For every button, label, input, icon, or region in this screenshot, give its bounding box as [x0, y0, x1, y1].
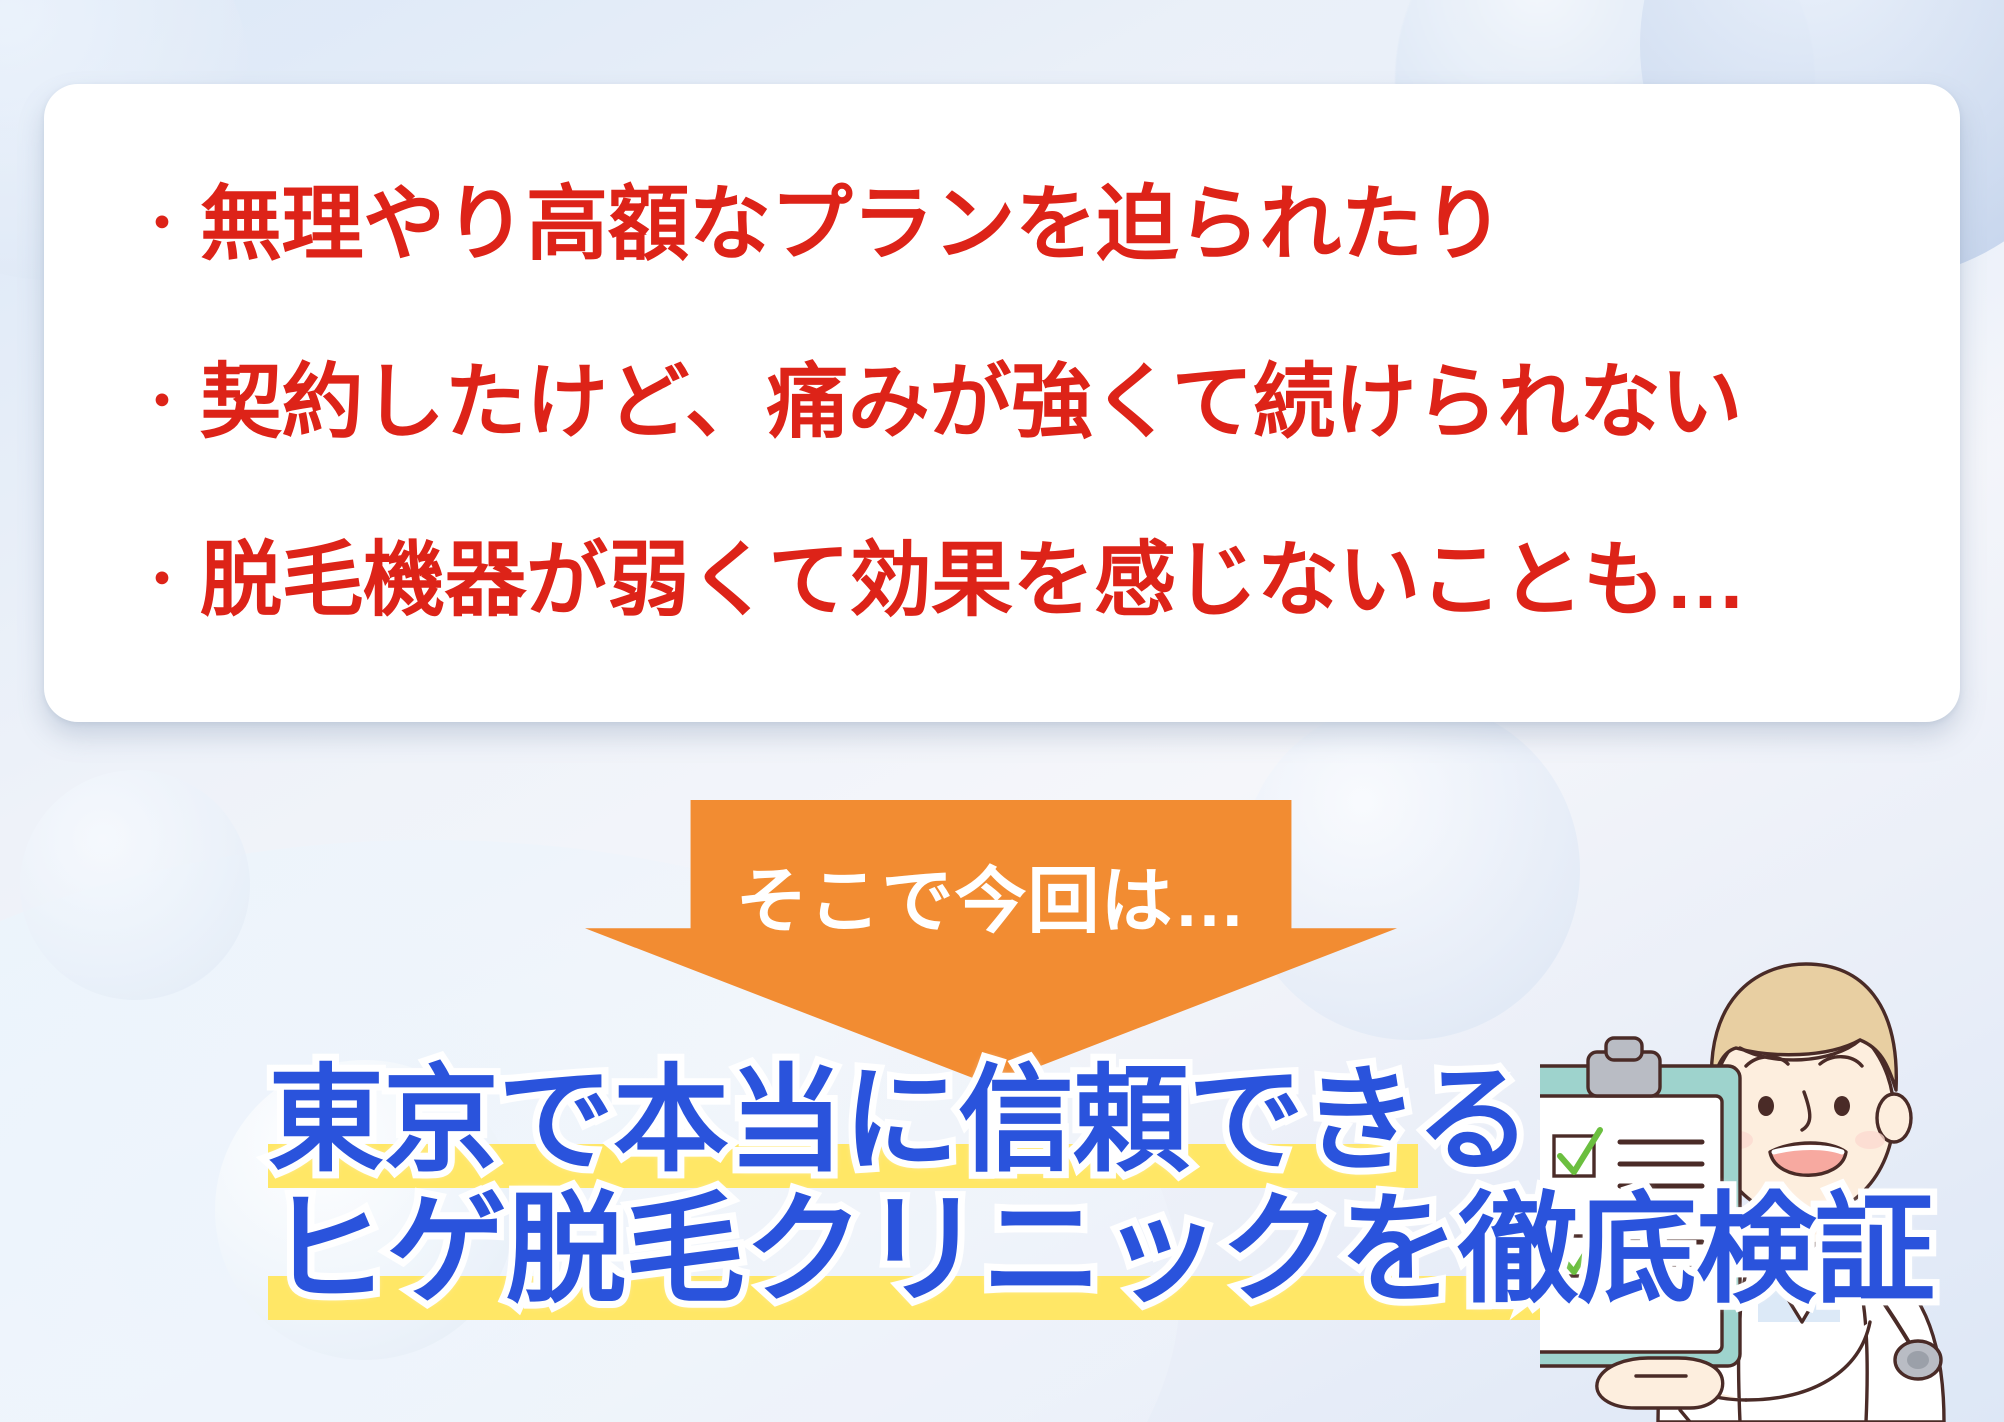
- headline-line-2: ヒゲ脱毛クリニックを徹底検証: [268, 1190, 1934, 1310]
- bullet-marker-icon: ・: [132, 551, 192, 611]
- arrow-label: そこで今回は…: [585, 866, 1397, 938]
- headline-line-1-wrap: 東京で本当に信頼できる: [268, 1062, 1698, 1178]
- list-item: ・ 無理やり高額なプランを迫られたり: [132, 181, 1900, 270]
- problem-text-2: 契約したけど、痛みが強くて続けられない: [200, 359, 1742, 448]
- headline-line-2-wrap: ヒゲ脱毛クリニックを徹底検証: [268, 1190, 1698, 1310]
- banner-root: ・ 無理やり高額なプランを迫られたり ・ 契約したけど、痛みが強くて続けられない…: [0, 0, 2004, 1422]
- bullet-marker-icon: ・: [132, 195, 192, 255]
- down-arrow-callout: そこで今回は…: [585, 800, 1397, 1085]
- doctor-illustration: [1540, 852, 2004, 1422]
- headline: 東京で本当に信頼できる ヒゲ脱毛クリニックを徹底検証: [268, 1062, 1698, 1322]
- problem-text-1: 無理やり高額なプランを迫られたり: [200, 181, 1504, 270]
- headline-line-1: 東京で本当に信頼できる: [268, 1062, 1531, 1178]
- list-item: ・ 契約したけど、痛みが強くて続けられない: [132, 359, 1900, 448]
- problem-card: ・ 無理やり高額なプランを迫られたり ・ 契約したけど、痛みが強くて続けられない…: [44, 84, 1960, 722]
- problem-text-3: 脱毛機器が弱くて効果を感じないことも…: [200, 537, 1746, 626]
- bullet-marker-icon: ・: [132, 373, 192, 433]
- arrow-down-icon: [585, 800, 1397, 1085]
- background-bubble: [20, 770, 250, 1000]
- list-item: ・ 脱毛機器が弱くて効果を感じないことも…: [132, 537, 1900, 626]
